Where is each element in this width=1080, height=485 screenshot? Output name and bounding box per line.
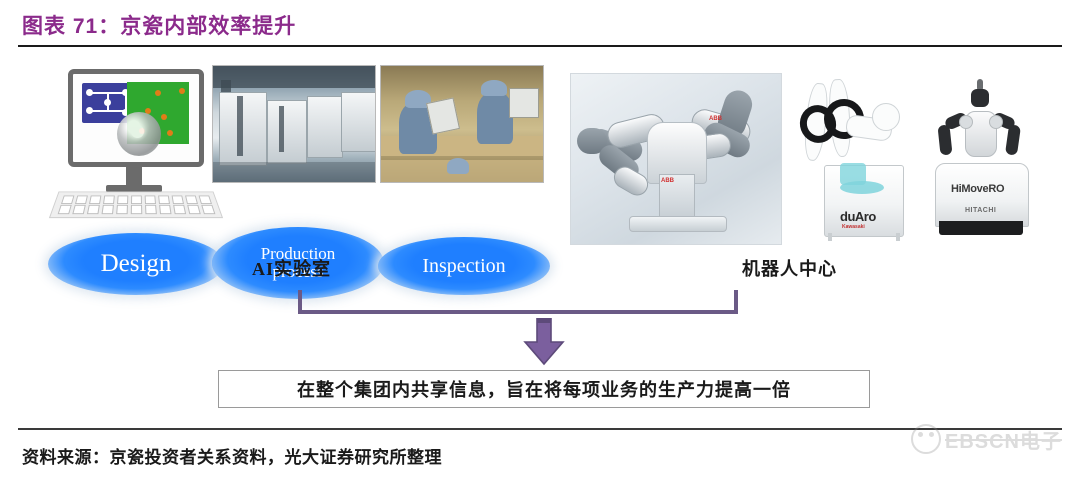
inspection-photo (380, 65, 544, 183)
stage-bubble-inspection: Inspection (378, 237, 550, 295)
hitachi-himovero-robot-image: HiMoveRO HITACHI (925, 71, 1037, 247)
himovero-mobile-base (935, 163, 1029, 227)
duaro-brand-label: duAro (840, 209, 876, 224)
robot-base (629, 216, 727, 232)
monitor-stand (126, 167, 142, 187)
kawasaki-duaro-robot-image: duAro Kawasaki (800, 77, 908, 245)
watermark-logo-icon (911, 424, 941, 454)
header-divider (18, 45, 1062, 47)
down-arrow-icon (523, 318, 565, 366)
lens-overlay-icon (117, 112, 161, 156)
duaro-accent (840, 181, 884, 194)
watermark: EBSCN电子 (911, 424, 1062, 454)
watermark-text: EBSCN电子 (945, 431, 1062, 453)
connector-bracket (298, 290, 738, 314)
source-note: 资料来源：京瓷投资者关系资料，光大证券研究所整理 (22, 443, 442, 468)
watermark-strike (945, 439, 1062, 441)
figure-page: 图表 71：京瓷内部效率提升 (0, 0, 1080, 485)
himovero-brand-label: HiMoveRO (951, 183, 1004, 195)
monitor-screen (68, 69, 204, 167)
caption-robot-center: 机器人中心 (742, 255, 837, 281)
hitachi-sub-brand: HITACHI (965, 207, 996, 214)
statement-box: 在整个集团内共享信息，旨在将每项业务的生产力提高一倍 (218, 370, 870, 408)
abb-brand-mark-2: ABB (661, 178, 674, 184)
base-bumper (939, 221, 1023, 235)
footer-divider (18, 428, 1062, 430)
page-title: 图表 71：京瓷内部效率提升 (22, 10, 296, 40)
stage-bubble-design: Design (48, 233, 224, 295)
duaro-sub-brand: Kawasaki (842, 224, 865, 230)
stage-label-inspection: Inspection (422, 256, 505, 277)
abb-yumi-robot-image: ABB ABB (570, 73, 782, 245)
stage-label-design: Design (101, 251, 172, 277)
production-line-photo (212, 65, 376, 183)
abb-brand-mark: ABB (709, 116, 722, 122)
design-monitor-image (52, 69, 220, 239)
robot-head (971, 89, 989, 107)
diagram-stage: Design Production process Inspection A (0, 55, 1080, 255)
caption-ai-lab: AI实验室 (252, 255, 331, 281)
keyboard-image (49, 191, 223, 218)
